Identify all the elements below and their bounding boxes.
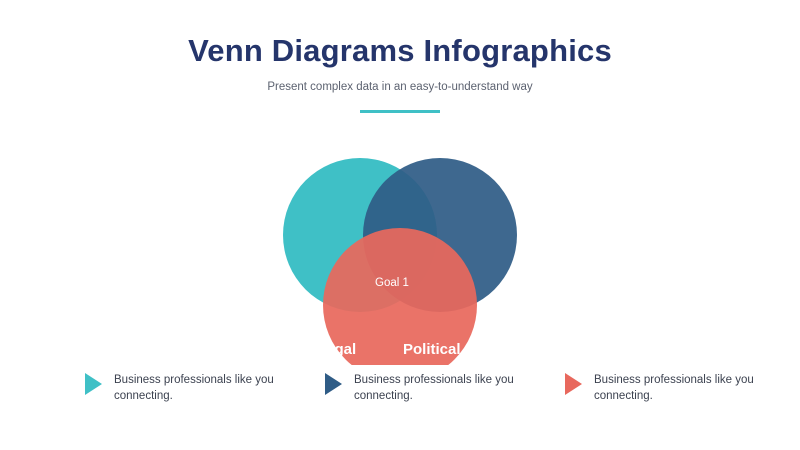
footer-note-3: Business professionals like you connecti… bbox=[565, 372, 795, 404]
play-triangle-icon bbox=[565, 373, 582, 395]
footer-note-1: Business professionals like you connecti… bbox=[85, 372, 315, 404]
footer-note-2: Business professionals like you connecti… bbox=[325, 372, 555, 404]
page-title: Venn Diagrams Infographics bbox=[0, 33, 800, 69]
footer-note-text: Business professionals like you connecti… bbox=[354, 372, 524, 404]
slide: Venn Diagrams Infographics Present compl… bbox=[0, 0, 800, 450]
page-subtitle: Present complex data in an easy-to-under… bbox=[0, 81, 800, 93]
play-triangle-icon bbox=[85, 373, 102, 395]
footer-notes: Business professionals like you connecti… bbox=[0, 372, 800, 422]
venn-intersection-label-goal-1: Goal 1 bbox=[375, 277, 409, 289]
venn-label-social: Social bbox=[367, 429, 411, 446]
venn-label-political: Political bbox=[403, 341, 461, 358]
venn-svg bbox=[255, 125, 545, 365]
footer-note-text: Business professionals like you connecti… bbox=[114, 372, 284, 404]
venn-diagram: Legal Political Social Goal 1 Goal 2 Goa… bbox=[255, 125, 545, 365]
venn-label-legal: Legal bbox=[317, 341, 356, 358]
footer-note-text: Business professionals like you connecti… bbox=[594, 372, 764, 404]
title-underline bbox=[360, 110, 440, 113]
play-triangle-icon bbox=[325, 373, 342, 395]
